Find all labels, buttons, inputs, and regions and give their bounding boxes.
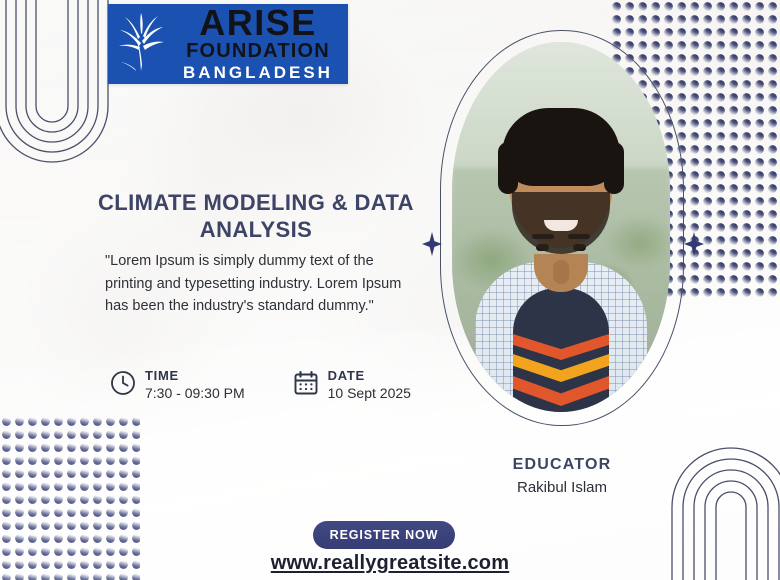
meta-label-time: TIME — [145, 368, 245, 384]
meta-value-date: 10 Sept 2025 — [328, 384, 411, 402]
portrait-photo — [452, 42, 670, 412]
tree-icon — [108, 4, 174, 84]
speaker-role: EDUCATOR — [452, 455, 672, 476]
logo-line-bangladesh: BANGLADESH — [174, 62, 342, 83]
concentric-arches-icon — [0, 0, 112, 191]
event-description: "Lorem Ipsum is simply dummy text of the… — [105, 250, 425, 318]
logo-line-arise: ARISE — [174, 5, 342, 41]
calendar-icon — [293, 370, 319, 401]
event-poster: ARISE FOUNDATION BANGLADESH CLIMATE MODE… — [0, 0, 780, 580]
halftone-dots-icon — [0, 415, 140, 580]
meta-item-date: DATE 10 Sept 2025 — [293, 368, 411, 402]
concentric-arches-icon — [666, 441, 780, 580]
event-title: CLIMATE MODELING & DATA ANALYSIS — [56, 190, 456, 244]
speaker-portrait-frame — [452, 42, 670, 412]
meta-label-date: DATE — [328, 368, 411, 384]
website-url-link[interactable]: www.reallygreatsite.com — [190, 552, 590, 575]
meta-item-time: TIME 7:30 - 09:30 PM — [110, 368, 245, 402]
register-now-button[interactable]: REGISTER NOW — [313, 521, 455, 549]
speaker-name: Rakibul Islam — [452, 477, 672, 498]
logo-line-foundation: FOUNDATION — [174, 41, 342, 62]
meta-value-time: 7:30 - 09:30 PM — [145, 384, 245, 402]
event-meta: TIME 7:30 - 09:30 PM DATE 10 Sept 2025 — [110, 368, 411, 402]
clock-icon — [110, 370, 136, 401]
speaker-block: EDUCATOR Rakibul Islam — [452, 455, 672, 498]
brand-logo: ARISE FOUNDATION BANGLADESH — [108, 4, 348, 84]
